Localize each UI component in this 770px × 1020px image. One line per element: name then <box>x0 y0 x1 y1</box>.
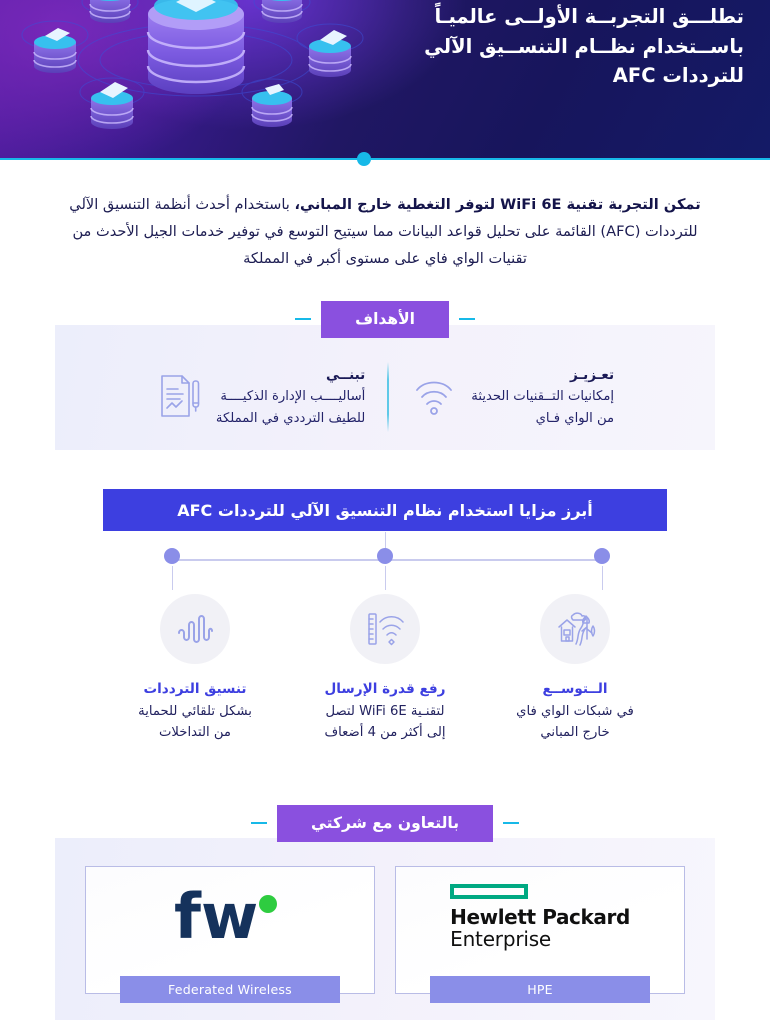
document-pen-icon <box>156 372 202 420</box>
objective-adopt-line2: أساليــــب الإدارة الذكيــــة <box>220 389 365 404</box>
isometric-database-network-illustration <box>0 0 390 160</box>
objective-enhance-line3: من الواي فـاي <box>536 411 614 426</box>
objective-enhance-head: تعـزيـز <box>471 364 614 386</box>
database-stack-small-4 <box>309 30 351 77</box>
fw-wordmark-icon: fw <box>170 882 290 952</box>
benefit-coordination-line2: بشكل تلقائي للحماية <box>138 704 252 719</box>
benefit-icon-badge <box>160 594 230 664</box>
partner-card-federated-wireless: fw Federated Wireless <box>85 866 375 994</box>
objective-enhance-line2: إمكانيات التــقنيات الحديثة <box>471 389 614 404</box>
badge-dash-left-icon <box>503 822 519 824</box>
timeline-dot-icon <box>377 548 393 564</box>
timeline-stem-up <box>385 532 387 548</box>
benefit-expansion-text: الــتوســع في شبكات الواي فاي خارج المبا… <box>516 678 634 744</box>
benefits-banner: أبرز مزايا استخدام نظام التنسيق الآلي لل… <box>103 489 667 531</box>
objective-adopt-head: تبنــي <box>216 364 365 386</box>
benefit-icon-badge <box>350 594 420 664</box>
timeline-stem <box>385 566 387 590</box>
timeline-stem <box>602 566 604 590</box>
benefit-expansion-head: الــتوســع <box>516 678 634 700</box>
objectives-badge-row: الأهداف <box>0 301 770 338</box>
hpe-logo: Hewlett Packard Enterprise <box>396 867 684 967</box>
house-outdoors-icon <box>553 607 597 651</box>
timeline-node-3 <box>594 548 610 564</box>
intro-bold-lead: تمكن التجربة تقنية WiFi 6E لتوفر التغطية… <box>295 196 701 213</box>
timeline-node-2 <box>377 548 393 564</box>
intro-paragraph: تمكن التجربة تقنية WiFi 6E لتوفر التغطية… <box>55 192 715 273</box>
hpe-logo-line-1: Hewlett Packard <box>450 907 630 929</box>
benefit-coordination-line3: من التداخلات <box>159 725 231 740</box>
infographic-page: تطلـــق التجربــة الأولــى عالميـاً باسـ… <box>0 0 770 1020</box>
timeline-node-1 <box>164 548 180 564</box>
badge-dash-right-icon <box>295 318 311 320</box>
waveform-icon <box>173 607 217 651</box>
header-title-line-2: باســتخدام نظــام التنســيق الآلي <box>384 32 744 62</box>
benefit-transmit-line3: إلى أكثر من 4 أضعاف <box>324 725 445 740</box>
benefit-coordination-head: تنسيق الترددات <box>138 678 252 700</box>
partner-cards: fw Federated Wireless Hewlett Packard En… <box>85 866 685 1011</box>
database-stack-small-6 <box>262 0 302 23</box>
header-title-line-1: تطلـــق التجربــة الأولــى عالميـاً <box>384 2 744 32</box>
objective-item-enhance: تعـزيـز إمكانيات التــقنيات الحديثة من ا… <box>411 364 614 429</box>
benefit-expansion-line3: خارج المباني <box>540 725 609 740</box>
benefit-transmit-line2: لتقنـية WiFi 6E لتصل <box>325 704 444 719</box>
objectives-row: تعـزيـز إمكانيات التــقنيات الحديثة من ا… <box>55 325 715 450</box>
benefits-timeline <box>100 548 670 598</box>
objective-adopt-text: تبنــي أساليــــب الإدارة الذكيــــة للط… <box>216 364 365 429</box>
benefits-columns: الــتوســع في شبكات الواي فاي خارج المبا… <box>100 594 670 759</box>
header-accent-dot <box>357 152 371 166</box>
badge-dash-right-icon <box>251 822 267 824</box>
header-banner: تطلـــق التجربــة الأولــى عالميـاً باسـ… <box>0 0 770 160</box>
benefit-transmit-text: رفع قدرة الإرسال لتقنـية WiFi 6E لتصل إل… <box>324 678 445 744</box>
svg-text:fw: fw <box>174 882 258 952</box>
benefit-icon-badge <box>540 594 610 664</box>
hpe-green-bar-icon <box>450 884 528 899</box>
objective-enhance-text: تعـزيـز إمكانيات التــقنيات الحديثة من ا… <box>471 364 614 429</box>
partner-card-hpe: Hewlett Packard Enterprise HPE <box>395 866 685 994</box>
header-divider-rule <box>0 158 770 160</box>
benefit-column-expansion: الــتوســع في شبكات الواي فاي خارج المبا… <box>480 594 670 759</box>
badge-dash-left-icon <box>459 318 475 320</box>
database-stack-small-5 <box>90 0 130 23</box>
wifi-icon <box>411 372 457 420</box>
benefit-expansion-line2: في شبكات الواي فاي <box>516 704 634 719</box>
timeline-stem <box>172 566 174 590</box>
objectives-panel: تعـزيـز إمكانيات التــقنيات الحديثة من ا… <box>55 325 715 450</box>
partner-label-federated-wireless: Federated Wireless <box>120 976 340 1003</box>
benefit-coordination-text: تنسيق الترددات بشكل تلقائي للحماية من ال… <box>138 678 252 744</box>
partners-badge-row: بالتعاون مع شركتي <box>0 805 770 842</box>
database-stack-large <box>148 0 244 94</box>
objectives-badge: الأهداف <box>321 301 449 338</box>
benefit-column-transmit-power: رفع قدرة الإرسال لتقنـية WiFi 6E لتصل إل… <box>290 594 480 759</box>
hpe-logo-line-2: Enterprise <box>450 928 630 950</box>
benefit-column-frequency-coordination: تنسيق الترددات بشكل تلقائي للحماية من ال… <box>100 594 290 759</box>
partner-label-hpe: HPE <box>430 976 650 1003</box>
database-stack-small-1 <box>34 28 76 73</box>
timeline-dot-icon <box>164 548 180 564</box>
federated-wireless-logo: fw <box>86 867 374 967</box>
objectives-divider <box>387 362 389 432</box>
header-title-line-3: للترددات AFC <box>384 61 744 91</box>
objective-adopt-line3: للطيف الترددي في المملكة <box>216 411 365 426</box>
objective-item-adopt: تبنــي أساليــــب الإدارة الذكيــــة للط… <box>156 364 365 429</box>
ruler-wifi-icon <box>363 607 407 651</box>
partners-badge: بالتعاون مع شركتي <box>277 805 493 842</box>
header-title: تطلـــق التجربــة الأولــى عالميـاً باسـ… <box>384 2 744 91</box>
timeline-dot-icon <box>594 548 610 564</box>
benefit-transmit-head: رفع قدرة الإرسال <box>324 678 445 700</box>
